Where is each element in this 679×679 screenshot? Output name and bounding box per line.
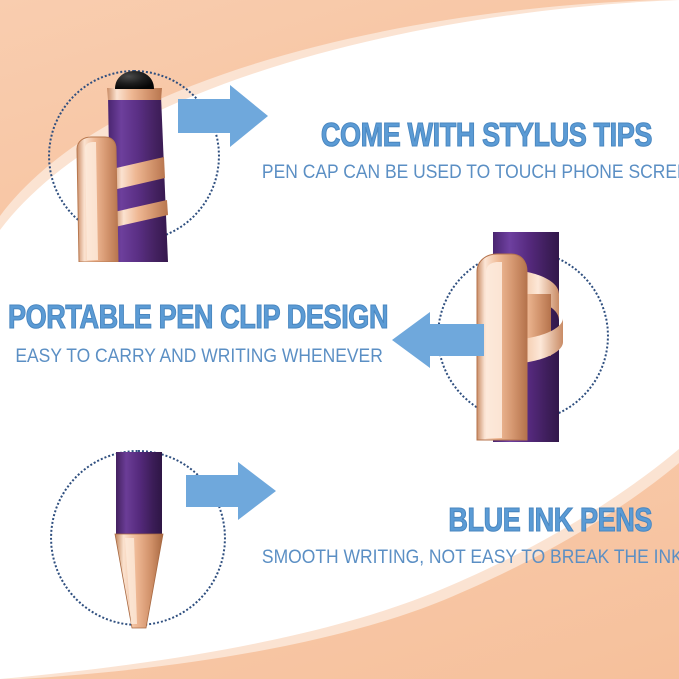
feature-2-text: PORTABLE PEN CLIP DESIGN EASY TO CARRY A…: [8, 300, 380, 386]
feature-1-headline: COME WITH STYLUS TIPS: [304, 118, 652, 151]
feature-3-headline: BLUE INK PENS: [304, 503, 652, 536]
infographic-canvas: COME WITH STYLUS TIPS PEN CAP CAN BE USE…: [0, 0, 679, 679]
feature-1-text: COME WITH STYLUS TIPS PEN CAP CAN BE USE…: [228, 118, 652, 200]
pen-writing-tip-illustration: [90, 450, 190, 630]
feature-3-text: BLUE INK PENS SMOOTH WRITING, NOT EASY T…: [228, 503, 652, 585]
pen-barrel: [116, 452, 162, 536]
feature-2-headline: PORTABLE PEN CLIP DESIGN: [8, 300, 313, 333]
pen-clip-highlight: [85, 142, 98, 260]
pen-clip-highlight: [486, 262, 502, 438]
pen-stylus-cap-illustration: [60, 52, 210, 262]
feature-2-subline: EASY TO CARRY AND WRITING WHENEVER: [8, 347, 350, 368]
pen-gold-band-top: [107, 88, 162, 100]
arrow-left-icon-2: [392, 312, 484, 368]
stylus-tip: [115, 71, 154, 89]
feature-3-subline: SMOOTH WRITING, NOT EASY TO BREAK THE IN…: [262, 548, 652, 569]
feature-1-subline: PEN CAP CAN BE USED TO TOUCH PHONE SCREE…: [262, 163, 652, 184]
pen-nib-cone: [115, 534, 163, 628]
